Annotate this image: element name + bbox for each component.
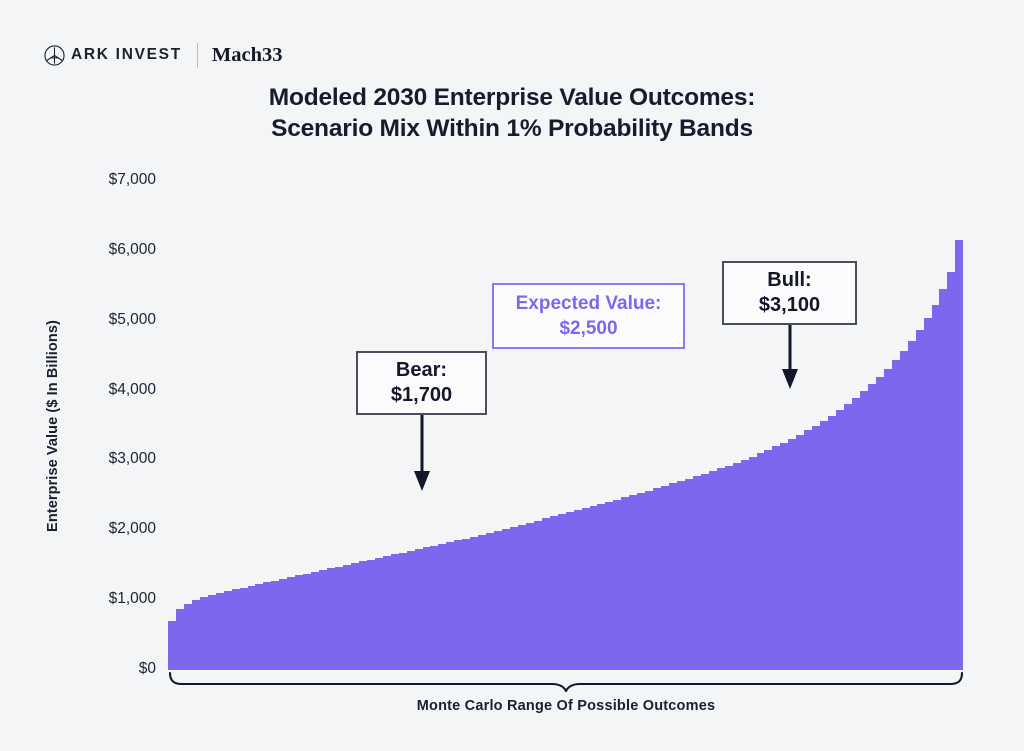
title-line-1: Modeled 2030 Enterprise Value Outcomes: <box>0 82 1024 113</box>
y-axis-tick-4: $4,000 <box>72 381 156 399</box>
bar <box>892 360 900 670</box>
bar <box>884 369 892 670</box>
bar <box>208 595 216 670</box>
bar <box>645 491 653 670</box>
annotation-bear-label: Bear: <box>358 358 485 383</box>
bar <box>780 443 788 670</box>
bar <box>590 506 598 670</box>
bar <box>462 539 470 670</box>
bar <box>192 600 200 670</box>
bar <box>955 240 963 670</box>
bar <box>423 547 431 670</box>
bar <box>868 384 876 670</box>
bar <box>844 404 852 670</box>
bar <box>582 508 590 670</box>
y-axis-tick-2: $2,000 <box>72 520 156 538</box>
bar <box>757 453 765 670</box>
bar <box>351 563 359 670</box>
bar <box>518 525 526 670</box>
bar <box>287 577 295 670</box>
bar <box>788 439 796 670</box>
y-axis-tick-6: $6,000 <box>72 241 156 259</box>
bar <box>335 567 343 670</box>
annotation-bear-down-arrow-icon <box>408 415 436 493</box>
bar <box>526 523 534 670</box>
bar <box>375 558 383 670</box>
bar <box>876 377 884 670</box>
bar <box>319 570 327 670</box>
annotation-ev-value: $2,500 <box>494 316 683 341</box>
bar <box>176 609 184 670</box>
x-axis-caption: Monte Carlo Range Of Possible Outcomes <box>168 698 964 714</box>
bar <box>669 483 677 670</box>
bar <box>908 341 916 670</box>
bar <box>860 391 868 670</box>
bar <box>741 460 749 670</box>
bar <box>438 544 446 670</box>
y-axis-label: Enterprise Value ($ In Billions) <box>45 320 61 532</box>
bar <box>566 512 574 670</box>
bar <box>383 556 391 670</box>
annotation-bull-down-arrow-icon <box>776 325 804 391</box>
bar <box>764 450 772 670</box>
bar <box>391 554 399 670</box>
page-title: Modeled 2030 Enterprise Value Outcomes: … <box>0 82 1024 144</box>
bar <box>550 516 558 670</box>
bar <box>502 529 510 670</box>
plot-area <box>168 181 964 670</box>
bar <box>486 533 494 670</box>
bar <box>932 305 940 670</box>
bar <box>248 586 256 670</box>
y-axis-tick-3: $3,000 <box>72 450 156 468</box>
bar <box>224 591 232 670</box>
bar <box>900 351 908 670</box>
bar <box>613 500 621 670</box>
annotation-bear-value: $1,700 <box>358 383 485 408</box>
bar <box>947 272 955 670</box>
bar <box>852 398 860 670</box>
bar <box>311 572 319 670</box>
bar <box>343 565 351 670</box>
bar <box>399 553 407 670</box>
chart-page: ARK INVEST Mach33 Modeled 2030 Enterpris… <box>0 0 1024 751</box>
bar <box>796 435 804 670</box>
bar <box>733 463 741 670</box>
bar <box>621 497 629 670</box>
bar <box>749 457 757 670</box>
bar <box>407 551 415 670</box>
bar <box>415 549 423 670</box>
annotation-expected-value: Expected Value: $2,500 <box>492 283 685 349</box>
bar <box>534 521 542 670</box>
y-axis-tick-0: $0 <box>72 660 156 678</box>
bar <box>303 574 311 670</box>
bar <box>168 621 176 670</box>
bar <box>367 560 375 670</box>
annotation-bull-label: Bull: <box>724 268 855 293</box>
bar <box>200 597 208 670</box>
bar <box>605 502 613 670</box>
bar <box>637 493 645 670</box>
title-line-2: Scenario Mix Within 1% Probability Bands <box>0 113 1024 144</box>
bar <box>359 561 367 670</box>
brand-logo-bar: ARK INVEST Mach33 <box>44 40 282 70</box>
bar <box>661 486 669 670</box>
bar <box>263 582 271 670</box>
bar <box>279 579 287 670</box>
bar <box>430 546 438 670</box>
y-axis-tick-5: $5,000 <box>72 311 156 329</box>
bar <box>772 446 780 670</box>
bar <box>510 527 518 670</box>
bar <box>828 416 836 670</box>
y-axis-label-wrap: Enterprise Value ($ In Billions) <box>40 181 66 670</box>
bar <box>184 604 192 670</box>
bar <box>836 410 844 670</box>
bar <box>470 537 478 670</box>
bar <box>574 510 582 670</box>
bar <box>939 289 947 670</box>
bar <box>725 466 733 670</box>
bar <box>240 588 248 670</box>
bar <box>454 540 462 670</box>
bar <box>812 426 820 670</box>
bar <box>653 488 661 670</box>
y-axis-tick-1: $1,000 <box>72 590 156 608</box>
bar <box>693 476 701 670</box>
bar <box>446 542 454 670</box>
bar <box>542 518 550 670</box>
bar <box>295 575 303 670</box>
partner-wordmark: Mach33 <box>212 44 283 67</box>
bar <box>685 479 693 670</box>
bar <box>232 589 240 670</box>
ark-wordmark: ARK INVEST <box>71 46 182 64</box>
annotation-ev-label: Expected Value: <box>494 291 683 316</box>
bar <box>327 568 335 670</box>
annotation-bear: Bear: $1,700 <box>356 351 487 415</box>
y-axis-tick-7: $7,000 <box>72 171 156 189</box>
bar <box>478 535 486 670</box>
bar <box>820 421 828 670</box>
bar <box>677 481 685 670</box>
bar <box>558 514 566 670</box>
bar <box>709 471 717 670</box>
annotation-bull: Bull: $3,100 <box>722 261 857 325</box>
bar <box>629 495 637 670</box>
ark-circle-logo-icon <box>44 45 65 66</box>
annotation-bull-value: $3,100 <box>724 293 855 318</box>
bar <box>494 531 502 670</box>
bar <box>597 504 605 670</box>
bar <box>701 474 709 670</box>
bar <box>255 584 263 670</box>
bar <box>717 468 725 670</box>
bar-series <box>168 181 964 670</box>
bar <box>804 430 812 670</box>
bar <box>916 330 924 670</box>
bar <box>271 581 279 670</box>
curly-brace-icon <box>168 672 964 692</box>
vertical-divider-icon <box>197 43 198 68</box>
bar <box>216 593 224 670</box>
bar <box>924 318 932 670</box>
